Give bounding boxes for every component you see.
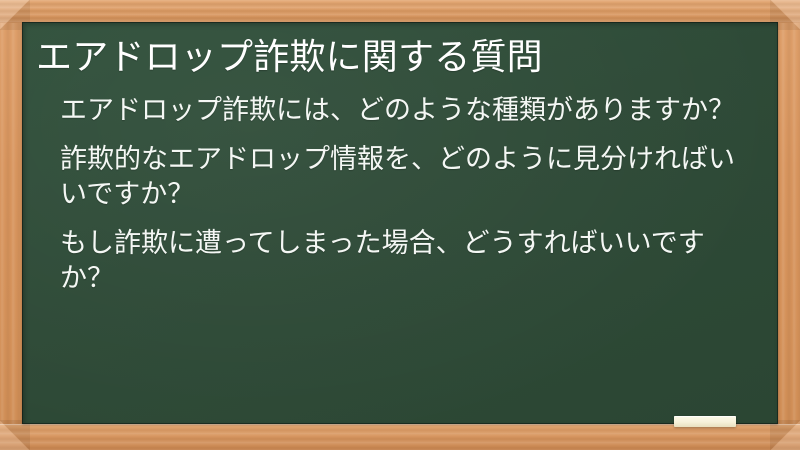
question-item: エアドロップ詐欺には、どのような種類がありますか？ [36,93,736,128]
chalkboard-content: エアドロップ詐欺に関する質問 エアドロップ詐欺には、どのような種類がありますか？… [22,22,778,424]
question-list: エアドロップ詐欺には、どのような種類がありますか？ 詐欺的なエアドロップ情報を、… [36,93,736,296]
slide-title: エアドロップ詐欺に関する質問 [36,34,748,79]
frame-ledge-bottom [0,424,800,450]
chalkboard-slide: エアドロップ詐欺に関する質問 エアドロップ詐欺には、どのような種類がありますか？… [0,0,800,450]
frame-rail-top [0,0,800,23]
chalk-stick-icon [674,416,736,427]
question-item: もし詐欺に遭ってしまった場合、どうすればいいですか？ [36,226,736,296]
question-item: 詐欺的なエアドロップ情報を、どのように見分ければいいですか？ [36,142,736,212]
chalkboard-surface: エアドロップ詐欺に関する質問 エアドロップ詐欺には、どのような種類がありますか？… [22,22,778,424]
